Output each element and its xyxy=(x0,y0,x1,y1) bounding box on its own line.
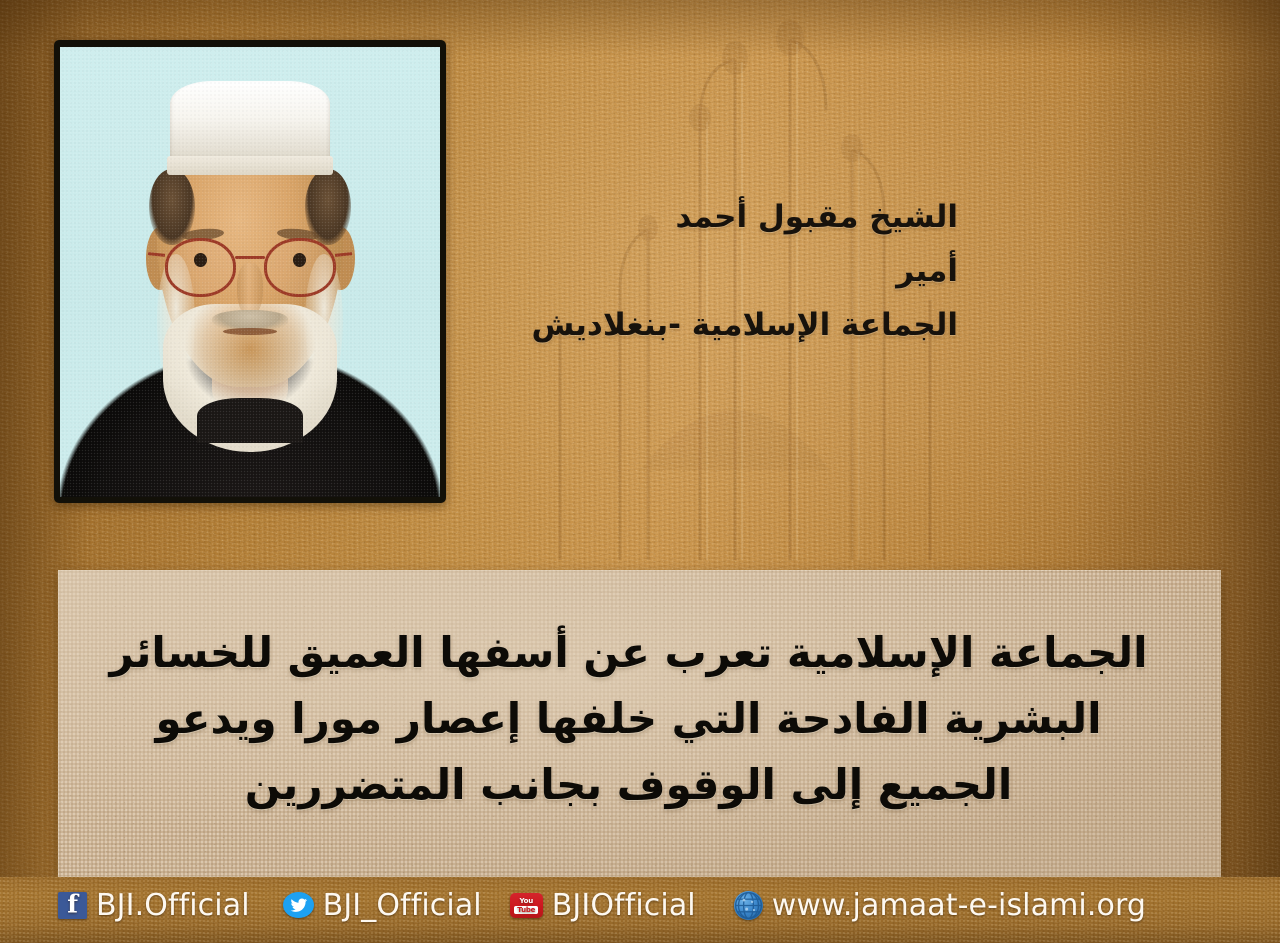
website-url: www.jamaat-e-islami.org xyxy=(772,888,1146,923)
youtube-glyph-you: You xyxy=(519,897,533,905)
speaker-title: أمير xyxy=(358,244,958,298)
social-link-twitter[interactable]: BJI_Official xyxy=(283,888,482,923)
facebook-handle: BJI.Official xyxy=(96,888,250,923)
twitter-handle: BJI_Official xyxy=(323,888,482,923)
statement-line-2: البشرية الفادحة التي خلفها إعصار مورا وي… xyxy=(58,686,1199,752)
twitter-icon[interactable] xyxy=(283,892,314,918)
social-footer-bar: BJI.Official BJI_Official You Tube xyxy=(0,877,1280,943)
statement-text: الجماعة الإسلامية تعرب عن أسفها العميق ل… xyxy=(58,620,1199,818)
statement-line-1: الجماعة الإسلامية تعرب عن أسفها العميق ل… xyxy=(58,620,1199,686)
speaker-name: الشيخ مقبول أحمد xyxy=(358,190,958,244)
statement-panel: الجماعة الإسلامية تعرب عن أسفها العميق ل… xyxy=(58,570,1221,877)
youtube-handle: BJIOfficial xyxy=(552,888,696,923)
speaker-identification: الشيخ مقبول أحمد أمير الجماعة الإسلامية … xyxy=(358,190,958,352)
social-links-row: BJI.Official BJI_Official You Tube xyxy=(0,877,1280,933)
statement-line-3: الجميع إلى الوقوف بجانب المتضررين xyxy=(58,752,1199,818)
social-link-website[interactable]: www.jamaat-e-islami.org xyxy=(734,888,1146,923)
statement-card: الشيخ مقبول أحمد أمير الجماعة الإسلامية … xyxy=(0,0,1280,943)
speaker-organization: الجماعة الإسلامية -بنغلاديش xyxy=(358,298,958,352)
social-link-facebook[interactable]: BJI.Official xyxy=(58,888,250,923)
social-link-youtube[interactable]: You Tube BJIOfficial xyxy=(510,888,696,923)
youtube-icon[interactable]: You Tube xyxy=(510,893,543,918)
facebook-icon[interactable] xyxy=(58,892,87,919)
youtube-glyph-tube: Tube xyxy=(514,906,538,914)
globe-icon[interactable] xyxy=(734,891,763,920)
